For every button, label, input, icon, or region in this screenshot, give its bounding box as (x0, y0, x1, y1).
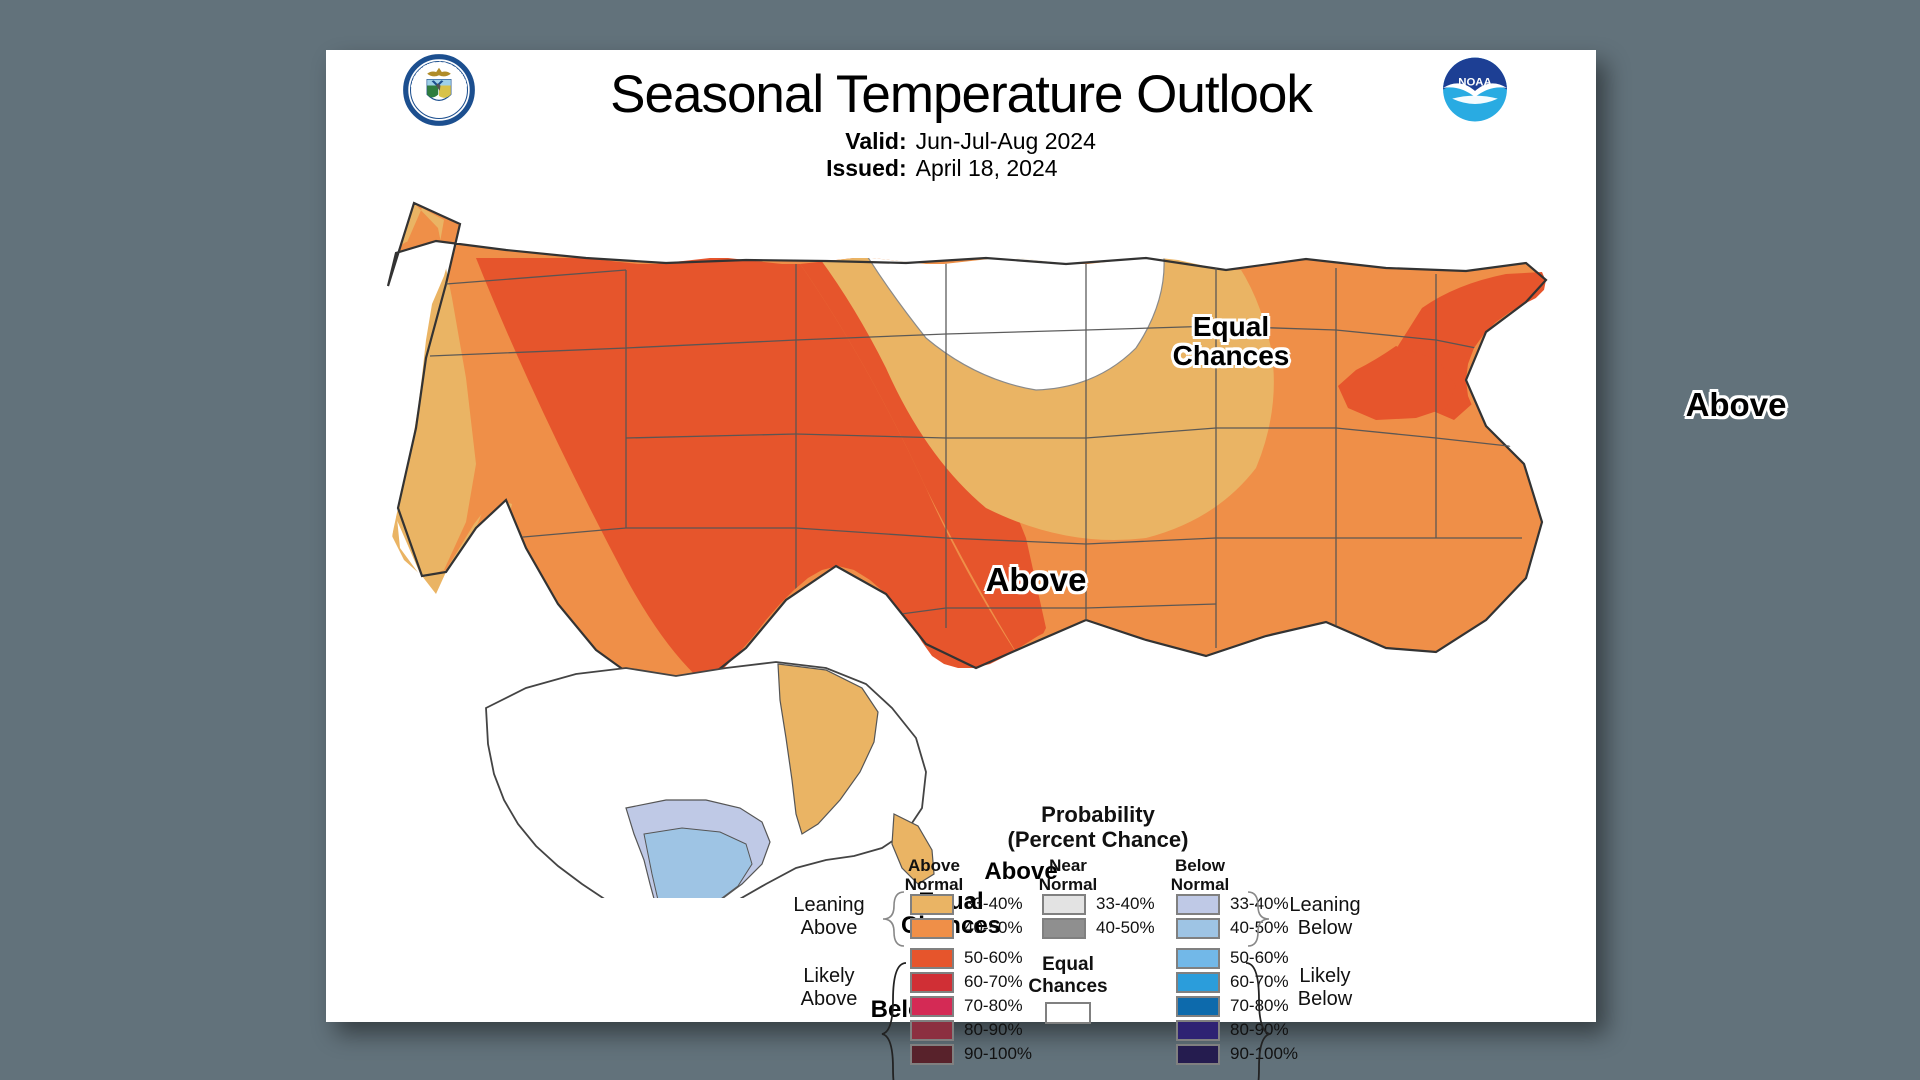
above-normal-label-70-80: 70-80% (964, 995, 1023, 1016)
colhead-above-l1: Above (874, 856, 994, 875)
noaa-logo-text: NOAA (1458, 77, 1492, 89)
legend-column-header-near-normal: Near Normal (1008, 856, 1128, 894)
near-normal-swatch-33-40 (1042, 894, 1086, 915)
below-normal-swatch-40-50 (1176, 918, 1220, 939)
likebelow-l1: Likely (1270, 965, 1380, 988)
outlook-map-card: Seasonal Temperature Outlook Valid: Jun-… (326, 50, 1596, 1022)
map-label-equal-chances-plains: Equal Chances (1116, 313, 1346, 370)
colhead-below-l1: Below (1140, 856, 1260, 875)
brace-likely-below-icon (1244, 960, 1272, 1080)
legend-title-line1: Probability (818, 802, 1378, 827)
map-label-northeast-above: Above (1636, 388, 1836, 422)
above-normal-label-33-40: 33-40% (964, 893, 1023, 914)
probability-legend: Probability (Percent Chance) Above Norma… (818, 802, 1378, 1072)
colhead-below-l2: Normal (1140, 875, 1260, 894)
colhead-near-l2: Normal (1008, 875, 1128, 894)
legend-group-leaning-below: Leaning Below (1270, 894, 1380, 940)
brace-likely-above-icon (880, 960, 908, 1080)
brace-leaning-above-icon (880, 890, 906, 948)
near-normal-swatch-40-50 (1042, 918, 1086, 939)
above-normal-swatch-70-80 (910, 996, 954, 1017)
near-normal-label-33-40: 33-40% (1096, 893, 1155, 914)
below-normal-swatch-70-80 (1176, 996, 1220, 1017)
legend-title: Probability (Percent Chance) (818, 802, 1378, 852)
below-normal-swatch-90-100 (1176, 1044, 1220, 1065)
above-normal-label-80-90: 80-90% (964, 1019, 1023, 1040)
screenshot-root: Seasonal Temperature Outlook Valid: Jun-… (0, 0, 1920, 1080)
legend-group-likely-below: Likely Below (1270, 965, 1380, 1011)
above-normal-swatch-90-100 (910, 1044, 954, 1065)
legend-equal-chances-label: Equal Chances (1008, 954, 1128, 998)
eqc-line1: Equal (1008, 954, 1128, 976)
above-normal-swatch-80-90 (910, 1020, 954, 1041)
map-svg (326, 108, 1596, 898)
above-normal-label-90-100: 90-100% (964, 1043, 1032, 1064)
near-normal-label-40-50: 40-50% (1096, 917, 1155, 938)
below-normal-swatch-60-70 (1176, 972, 1220, 993)
leanbelow-l1: Leaning (1270, 894, 1380, 917)
leanabove-l2: Above (774, 917, 884, 940)
likeabove-l1: Likely (774, 965, 884, 988)
conus-regions (388, 203, 1548, 718)
legend-equal-chances-swatch (1045, 1002, 1091, 1024)
below-normal-swatch-33-40 (1176, 894, 1220, 915)
above-normal-swatch-60-70 (910, 972, 954, 993)
leanbelow-l2: Below (1270, 917, 1380, 940)
eqc-line2: Chances (1008, 976, 1128, 998)
outlook-map: Above Above Equal Chances Above Equal Ch… (326, 108, 1596, 898)
legend-column-header-below-normal: Below Normal (1140, 856, 1260, 894)
colhead-near-l1: Near (1008, 856, 1128, 875)
above-normal-swatch-50-60 (910, 948, 954, 969)
above-normal-swatch-33-40 (910, 894, 954, 915)
likeabove-l2: Above (774, 988, 884, 1011)
above-normal-label-40-50: 40-50% (964, 917, 1023, 938)
below-normal-swatch-80-90 (1176, 1020, 1220, 1041)
below-normal-swatch-50-60 (1176, 948, 1220, 969)
legend-title-line2: (Percent Chance) (818, 827, 1378, 852)
likebelow-l2: Below (1270, 988, 1380, 1011)
legend-group-leaning-above: Leaning Above (774, 894, 884, 940)
map-label-ec-line2: Chances (1116, 342, 1346, 371)
leanabove-l1: Leaning (774, 894, 884, 917)
brace-leaning-below-icon (1246, 890, 1272, 948)
legend-group-likely-above: Likely Above (774, 965, 884, 1011)
map-label-west-above: Above (936, 563, 1136, 597)
above-normal-swatch-40-50 (910, 918, 954, 939)
map-label-ec-line1: Equal (1116, 313, 1346, 342)
legend-column-header-above-normal: Above Normal (874, 856, 994, 894)
